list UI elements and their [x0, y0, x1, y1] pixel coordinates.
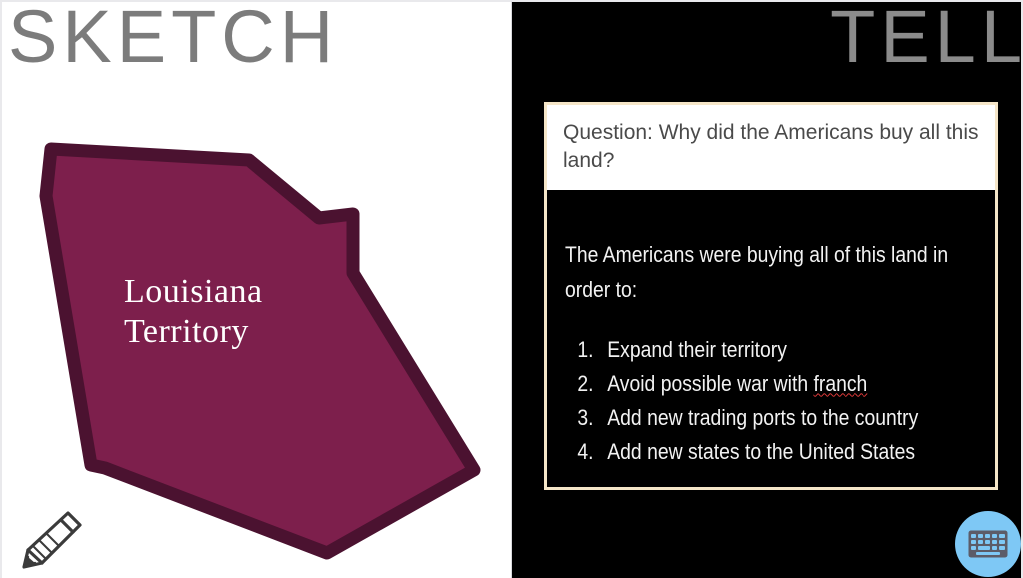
sketch-and-tell-screen: SKETCH Louisiana Territory — [0, 0, 1023, 578]
misspelled-word: franch — [813, 371, 867, 396]
territory-label-line-2: Territory — [124, 312, 354, 352]
territory-label: Louisiana Territory — [124, 272, 354, 352]
list-item-text: Avoid possible war with franch — [607, 367, 976, 401]
answer-options-list: 1. Expand their territory 2. Avoid possi… — [565, 333, 979, 469]
list-item-number: 2. — [565, 367, 607, 401]
list-item-text: Add new trading ports to the country — [607, 401, 976, 435]
list-item-number: 3. — [565, 401, 607, 435]
keyboard-icon — [968, 530, 1008, 558]
tell-panel: TELL Question: Why did the Americans buy… — [512, 0, 1023, 578]
flashcard: Question: Why did the Americans buy all … — [544, 102, 998, 490]
list-item: 1. Expand their territory — [565, 333, 977, 367]
keyboard-button[interactable] — [955, 511, 1021, 577]
list-item: 3. Add new trading ports to the country — [565, 401, 977, 435]
list-item: 4. Add new states to the United States — [565, 435, 977, 469]
list-item-number: 4. — [565, 435, 607, 469]
list-item-text-before: Avoid possible war with — [607, 371, 813, 396]
tell-panel-title: TELL — [830, 0, 1023, 77]
answer-intro-text: The Americans were buying all of this la… — [565, 238, 977, 306]
list-item: 2. Avoid possible war with franch — [565, 367, 977, 401]
list-item-number: 1. — [565, 333, 607, 367]
question-area: Question: Why did the Americans buy all … — [547, 105, 995, 190]
list-item-text: Add new states to the United States — [607, 435, 976, 469]
pencil-icon[interactable] — [16, 505, 88, 573]
answer-area: The Americans were buying all of this la… — [547, 190, 995, 487]
sketch-panel[interactable]: SKETCH Louisiana Territory — [0, 0, 512, 578]
question-text: Question: Why did the Americans buy all … — [563, 119, 979, 174]
list-item-text: Expand their territory — [607, 333, 976, 367]
territory-label-line-1: Louisiana — [124, 273, 263, 310]
pencil-icon-svg — [16, 505, 88, 573]
